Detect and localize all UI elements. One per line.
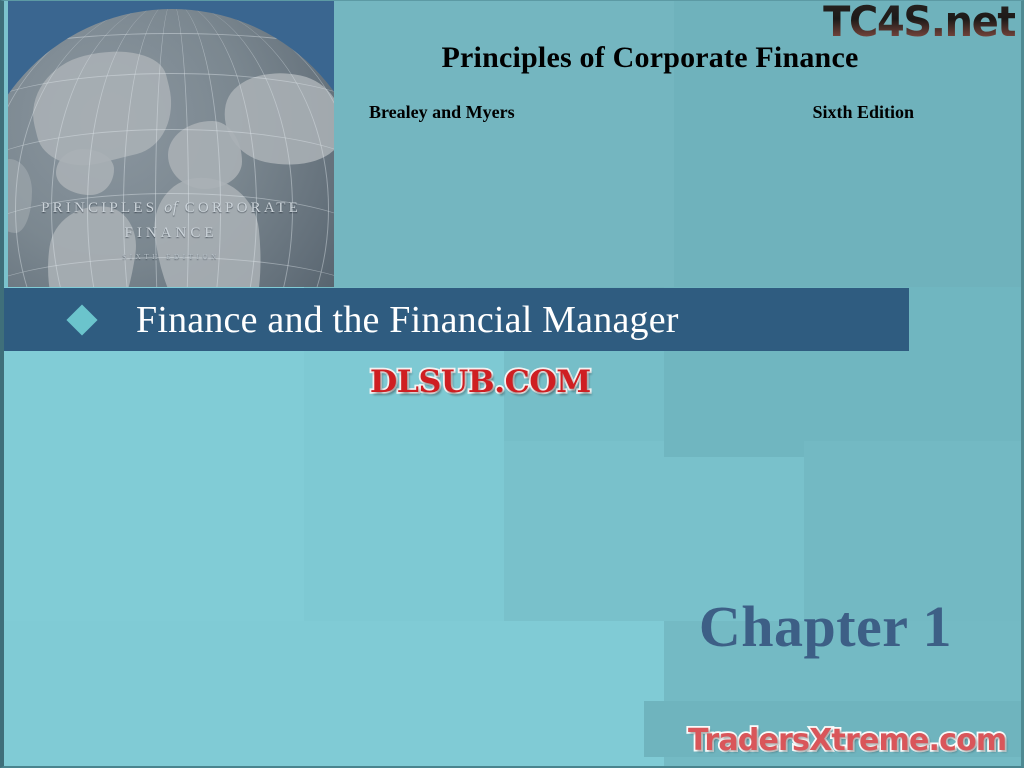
book-cover-image: PRINCIPLES of CORPORATE FINANCE SIXTH ED… <box>8 1 334 287</box>
slide-title: Finance and the Financial Manager <box>136 298 679 342</box>
globe-icon <box>8 9 334 287</box>
cover-title-line-1: PRINCIPLES of CORPORATE <box>8 199 334 217</box>
watermark-dlsub: DLSUB.COM <box>370 364 591 400</box>
book-title: Principles of Corporate Finance <box>370 41 930 75</box>
diamond-bullet-icon <box>66 304 97 335</box>
book-authors: Brealey and Myers <box>369 102 515 123</box>
globe-graticule <box>8 9 334 287</box>
cover-title-line-2: FINANCE <box>8 225 334 242</box>
slide-title-bar: Finance and the Financial Manager <box>4 288 909 351</box>
cover-edition-label: SIXTH EDITION <box>8 253 334 261</box>
watermark-tc4s: TC4S.net <box>823 0 1015 46</box>
book-edition: Sixth Edition <box>774 102 914 123</box>
presentation-slide: PRINCIPLES of CORPORATE FINANCE SIXTH ED… <box>0 0 1024 768</box>
background-block <box>4 621 664 768</box>
watermark-tradersxtreme: TradersXtreme.com <box>688 723 1006 758</box>
chapter-label: Chapter 1 <box>604 593 952 660</box>
